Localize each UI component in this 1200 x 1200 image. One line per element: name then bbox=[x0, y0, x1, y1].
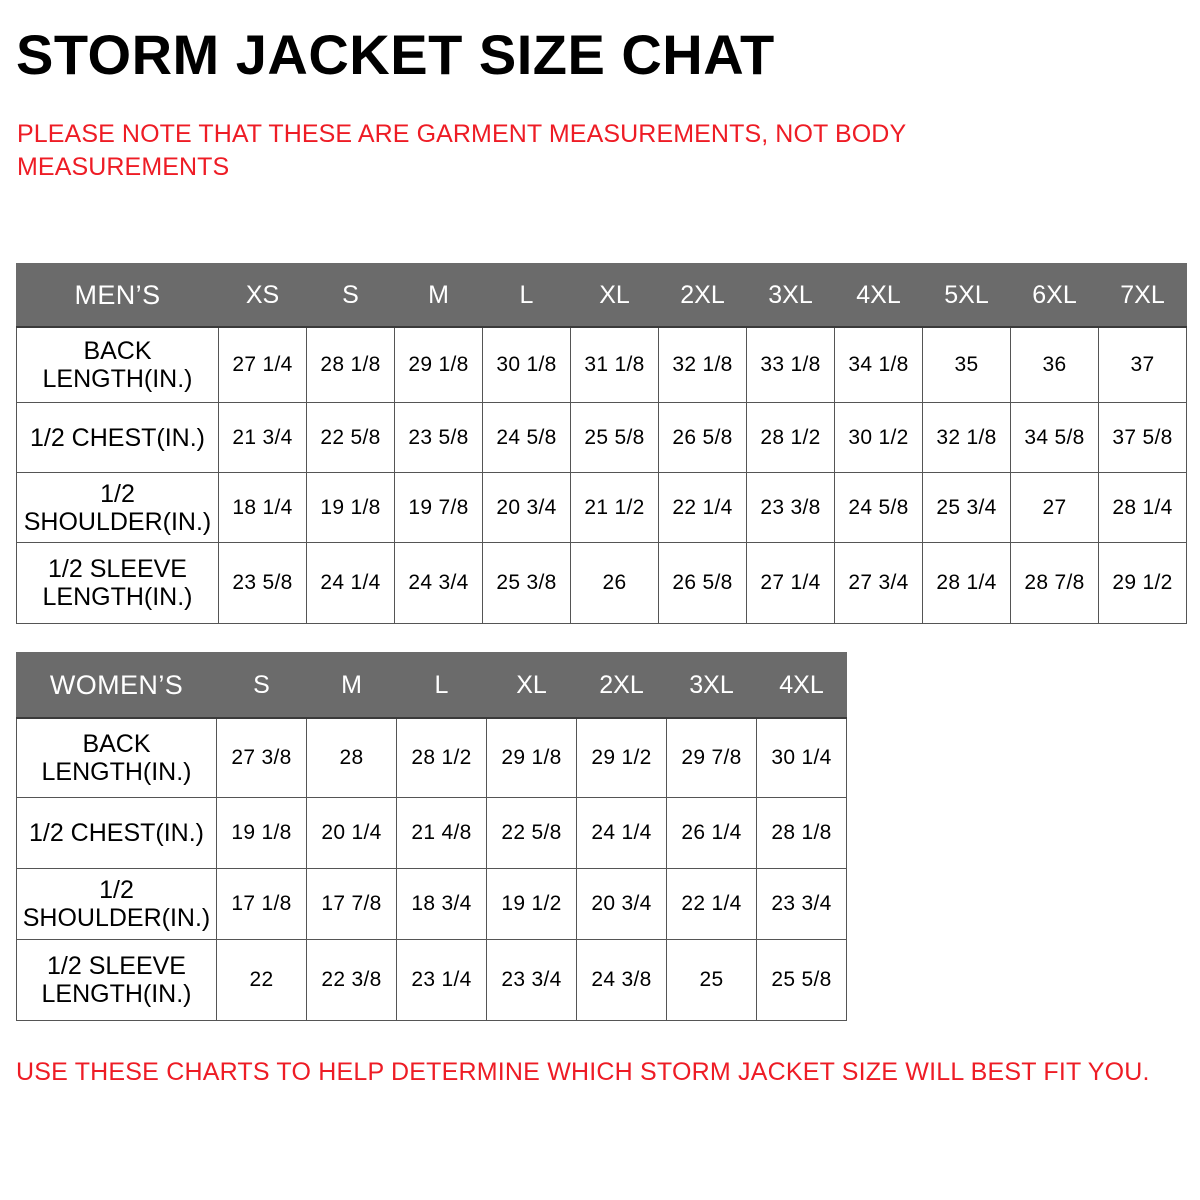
womens-cell-1-6: 28 1/8 bbox=[757, 798, 847, 869]
mens-cell-2-10: 28 1/4 bbox=[1099, 473, 1187, 543]
mens-table-head: MEN’SXSSMLXL2XL3XL4XL5XL6XL7XL bbox=[17, 264, 1187, 328]
womens-row-label-1: 1/2 CHEST(IN.) bbox=[17, 798, 217, 869]
mens-cell-0-3: 30 1/8 bbox=[483, 327, 571, 403]
mens-cell-1-2: 23 5/8 bbox=[395, 403, 483, 473]
mens-cell-3-4: 26 bbox=[571, 543, 659, 624]
womens-cell-0-5: 29 7/8 bbox=[667, 718, 757, 798]
mens-table-corner-label: MEN’S bbox=[17, 264, 219, 328]
womens-cell-2-2: 18 3/4 bbox=[397, 869, 487, 940]
womens-cell-3-0: 22 bbox=[217, 940, 307, 1021]
mens-table-body: BACK LENGTH(IN.)27 1/428 1/829 1/830 1/8… bbox=[17, 327, 1187, 624]
mens-cell-3-1: 24 1/4 bbox=[307, 543, 395, 624]
mens-cell-0-4: 31 1/8 bbox=[571, 327, 659, 403]
table-row: 1/2 SLEEVE LENGTH(IN.)2222 3/823 1/423 3… bbox=[17, 940, 847, 1021]
mens-cell-1-7: 30 1/2 bbox=[835, 403, 923, 473]
mens-cell-0-7: 34 1/8 bbox=[835, 327, 923, 403]
womens-cell-0-1: 28 bbox=[307, 718, 397, 798]
womens-row-label-0: BACK LENGTH(IN.) bbox=[17, 718, 217, 798]
mens-cell-0-10: 37 bbox=[1099, 327, 1187, 403]
mens-cell-3-0: 23 5/8 bbox=[219, 543, 307, 624]
table-row: 1/2 SLEEVE LENGTH(IN.)23 5/824 1/424 3/4… bbox=[17, 543, 1187, 624]
mens-cell-1-0: 21 3/4 bbox=[219, 403, 307, 473]
table-row: 1/2 CHEST(IN.)21 3/422 5/823 5/824 5/825… bbox=[17, 403, 1187, 473]
womens-cell-0-2: 28 1/2 bbox=[397, 718, 487, 798]
womens-size-table: WOMEN’SSMLXL2XL3XL4XL BACK LENGTH(IN.)27… bbox=[16, 652, 847, 1021]
womens-cell-3-5: 25 bbox=[667, 940, 757, 1021]
mens-size-header-m: M bbox=[395, 264, 483, 328]
womens-table-head: WOMEN’SSMLXL2XL3XL4XL bbox=[17, 653, 847, 719]
mens-cell-1-9: 34 5/8 bbox=[1011, 403, 1099, 473]
mens-cell-3-8: 28 1/4 bbox=[923, 543, 1011, 624]
mens-cell-0-8: 35 bbox=[923, 327, 1011, 403]
womens-cell-3-3: 23 3/4 bbox=[487, 940, 577, 1021]
garment-measurement-note: PLEASE NOTE THAT THESE ARE GARMENT MEASU… bbox=[17, 118, 1017, 184]
womens-cell-2-5: 22 1/4 bbox=[667, 869, 757, 940]
womens-size-header-l: L bbox=[397, 653, 487, 719]
mens-size-header-7xl: 7XL bbox=[1099, 264, 1187, 328]
mens-cell-3-9: 28 7/8 bbox=[1011, 543, 1099, 624]
page-title: STORM JACKET SIZE CHAT bbox=[16, 26, 775, 85]
womens-cell-0-4: 29 1/2 bbox=[577, 718, 667, 798]
mens-cell-1-3: 24 5/8 bbox=[483, 403, 571, 473]
womens-cell-1-2: 21 4/8 bbox=[397, 798, 487, 869]
mens-cell-3-3: 25 3/8 bbox=[483, 543, 571, 624]
womens-cell-0-3: 29 1/8 bbox=[487, 718, 577, 798]
womens-table-body: BACK LENGTH(IN.)27 3/82828 1/229 1/829 1… bbox=[17, 718, 847, 1021]
mens-cell-2-1: 19 1/8 bbox=[307, 473, 395, 543]
womens-row-label-2: 1/2 SHOULDER(IN.) bbox=[17, 869, 217, 940]
mens-size-header-6xl: 6XL bbox=[1011, 264, 1099, 328]
mens-cell-0-9: 36 bbox=[1011, 327, 1099, 403]
mens-cell-0-5: 32 1/8 bbox=[659, 327, 747, 403]
mens-cell-1-1: 22 5/8 bbox=[307, 403, 395, 473]
mens-cell-3-7: 27 3/4 bbox=[835, 543, 923, 624]
womens-cell-3-6: 25 5/8 bbox=[757, 940, 847, 1021]
mens-size-header-xs: XS bbox=[219, 264, 307, 328]
womens-cell-0-0: 27 3/8 bbox=[217, 718, 307, 798]
mens-cell-0-1: 28 1/8 bbox=[307, 327, 395, 403]
womens-cell-2-3: 19 1/2 bbox=[487, 869, 577, 940]
mens-row-label-1: 1/2 CHEST(IN.) bbox=[17, 403, 219, 473]
mens-size-header-4xl: 4XL bbox=[835, 264, 923, 328]
mens-size-header-2xl: 2XL bbox=[659, 264, 747, 328]
womens-row-label-3: 1/2 SLEEVE LENGTH(IN.) bbox=[17, 940, 217, 1021]
mens-cell-3-6: 27 1/4 bbox=[747, 543, 835, 624]
mens-cell-1-4: 25 5/8 bbox=[571, 403, 659, 473]
table-row: 1/2 CHEST(IN.)19 1/820 1/421 4/822 5/824… bbox=[17, 798, 847, 869]
womens-cell-2-1: 17 7/8 bbox=[307, 869, 397, 940]
womens-header-row: WOMEN’SSMLXL2XL3XL4XL bbox=[17, 653, 847, 719]
mens-cell-1-6: 28 1/2 bbox=[747, 403, 835, 473]
womens-cell-0-6: 30 1/4 bbox=[757, 718, 847, 798]
mens-row-label-0: BACK LENGTH(IN.) bbox=[17, 327, 219, 403]
mens-size-header-5xl: 5XL bbox=[923, 264, 1011, 328]
mens-cell-2-0: 18 1/4 bbox=[219, 473, 307, 543]
womens-size-header-s: S bbox=[217, 653, 307, 719]
womens-cell-3-4: 24 3/8 bbox=[577, 940, 667, 1021]
mens-row-label-3: 1/2 SLEEVE LENGTH(IN.) bbox=[17, 543, 219, 624]
womens-cell-1-0: 19 1/8 bbox=[217, 798, 307, 869]
womens-cell-1-1: 20 1/4 bbox=[307, 798, 397, 869]
mens-cell-2-3: 20 3/4 bbox=[483, 473, 571, 543]
mens-cell-1-10: 37 5/8 bbox=[1099, 403, 1187, 473]
mens-cell-0-2: 29 1/8 bbox=[395, 327, 483, 403]
mens-cell-0-0: 27 1/4 bbox=[219, 327, 307, 403]
womens-cell-3-1: 22 3/8 bbox=[307, 940, 397, 1021]
mens-size-table: MEN’SXSSMLXL2XL3XL4XL5XL6XL7XL BACK LENG… bbox=[16, 263, 1187, 624]
mens-cell-2-7: 24 5/8 bbox=[835, 473, 923, 543]
womens-cell-2-0: 17 1/8 bbox=[217, 869, 307, 940]
mens-header-row: MEN’SXSSMLXL2XL3XL4XL5XL6XL7XL bbox=[17, 264, 1187, 328]
mens-cell-2-8: 25 3/4 bbox=[923, 473, 1011, 543]
mens-cell-3-10: 29 1/2 bbox=[1099, 543, 1187, 624]
womens-cell-1-4: 24 1/4 bbox=[577, 798, 667, 869]
table-row: BACK LENGTH(IN.)27 3/82828 1/229 1/829 1… bbox=[17, 718, 847, 798]
mens-cell-2-5: 22 1/4 bbox=[659, 473, 747, 543]
womens-cell-1-3: 22 5/8 bbox=[487, 798, 577, 869]
mens-size-header-xl: XL bbox=[571, 264, 659, 328]
mens-size-header-l: L bbox=[483, 264, 571, 328]
mens-cell-0-6: 33 1/8 bbox=[747, 327, 835, 403]
womens-size-header-2xl: 2XL bbox=[577, 653, 667, 719]
size-chart-page: STORM JACKET SIZE CHAT PLEASE NOTE THAT … bbox=[0, 0, 1200, 1200]
table-row: 1/2 SHOULDER(IN.)17 1/817 7/818 3/419 1/… bbox=[17, 869, 847, 940]
mens-row-label-2: 1/2 SHOULDER(IN.) bbox=[17, 473, 219, 543]
mens-cell-3-2: 24 3/4 bbox=[395, 543, 483, 624]
table-row: 1/2 SHOULDER(IN.)18 1/419 1/819 7/820 3/… bbox=[17, 473, 1187, 543]
mens-cell-3-5: 26 5/8 bbox=[659, 543, 747, 624]
mens-cell-1-5: 26 5/8 bbox=[659, 403, 747, 473]
mens-cell-2-4: 21 1/2 bbox=[571, 473, 659, 543]
table-row: BACK LENGTH(IN.)27 1/428 1/829 1/830 1/8… bbox=[17, 327, 1187, 403]
womens-table-corner-label: WOMEN’S bbox=[17, 653, 217, 719]
mens-cell-1-8: 32 1/8 bbox=[923, 403, 1011, 473]
womens-cell-2-4: 20 3/4 bbox=[577, 869, 667, 940]
womens-size-header-xl: XL bbox=[487, 653, 577, 719]
womens-cell-3-2: 23 1/4 bbox=[397, 940, 487, 1021]
womens-size-header-m: M bbox=[307, 653, 397, 719]
womens-cell-2-6: 23 3/4 bbox=[757, 869, 847, 940]
womens-size-header-4xl: 4XL bbox=[757, 653, 847, 719]
mens-cell-2-2: 19 7/8 bbox=[395, 473, 483, 543]
womens-size-header-3xl: 3XL bbox=[667, 653, 757, 719]
mens-cell-2-6: 23 3/8 bbox=[747, 473, 835, 543]
mens-size-header-s: S bbox=[307, 264, 395, 328]
mens-size-header-3xl: 3XL bbox=[747, 264, 835, 328]
footer-guidance-note: USE THESE CHARTS TO HELP DETERMINE WHICH… bbox=[16, 1058, 1176, 1087]
mens-cell-2-9: 27 bbox=[1011, 473, 1099, 543]
womens-cell-1-5: 26 1/4 bbox=[667, 798, 757, 869]
